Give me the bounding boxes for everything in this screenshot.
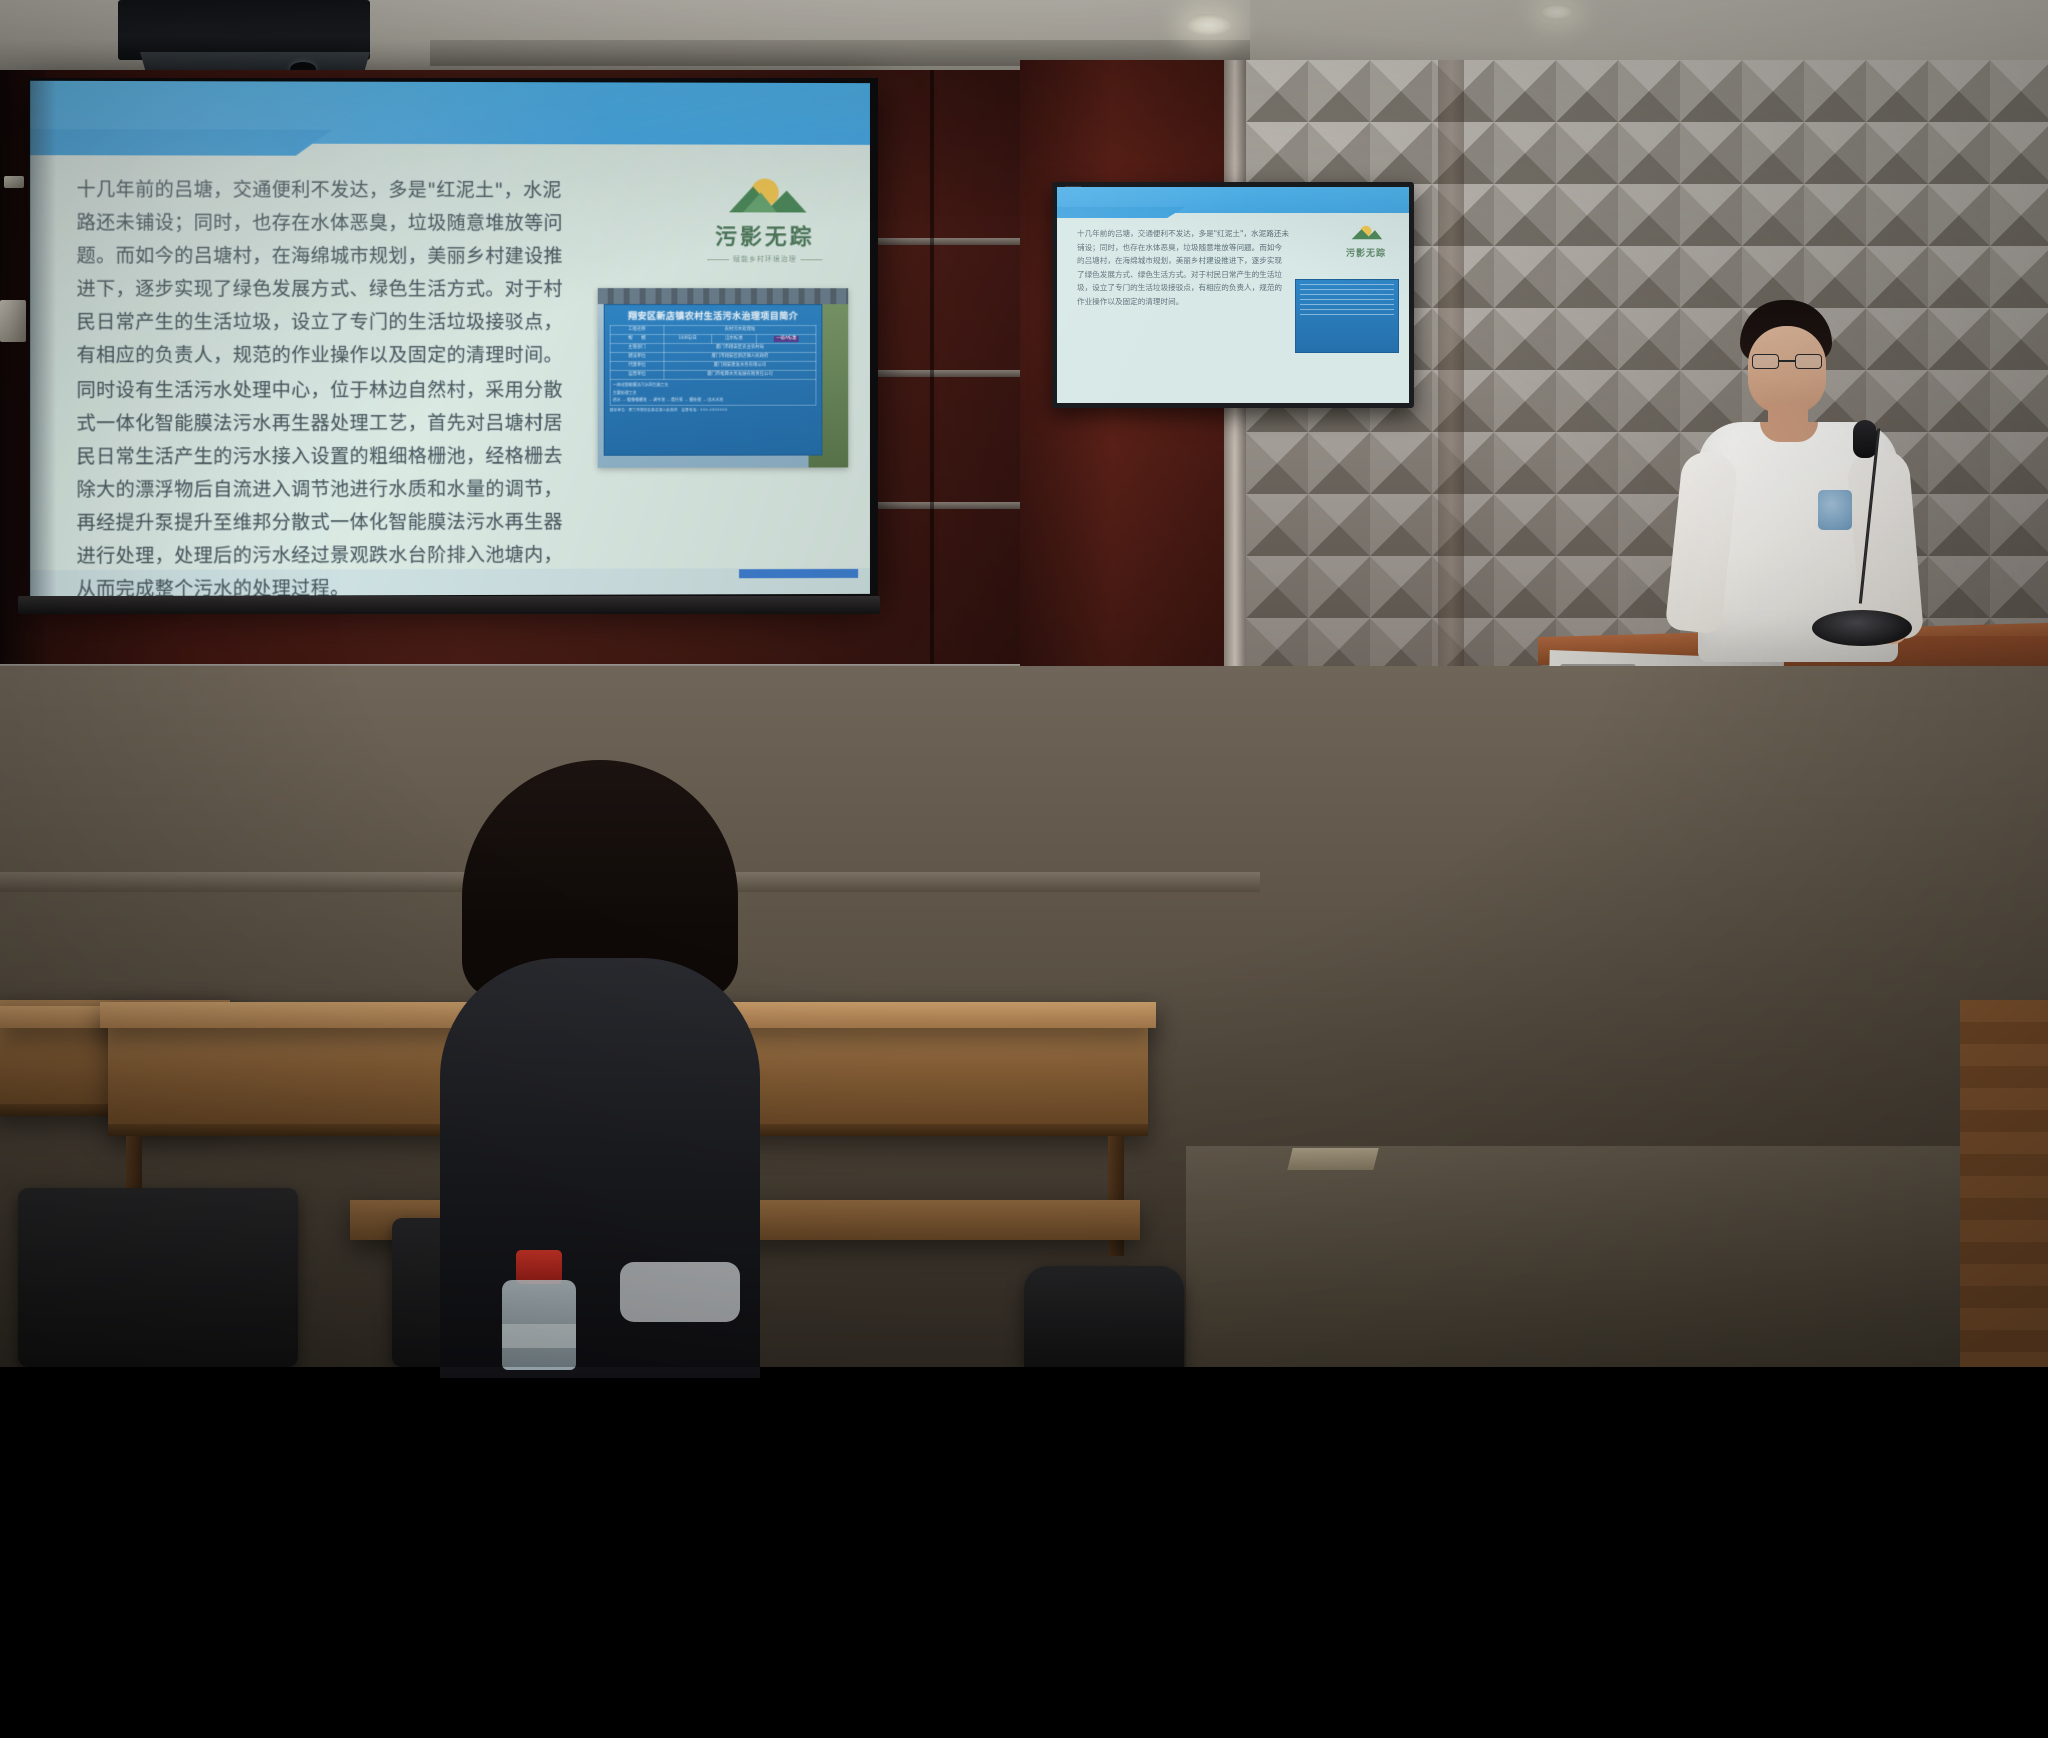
board-row-label: 建设单位 bbox=[610, 352, 664, 361]
mountain-sun-icon bbox=[1337, 223, 1395, 241]
bottle-cap bbox=[516, 1250, 562, 1284]
board-row-value: 厦门市翔安区新店镇人民政府 bbox=[664, 352, 816, 361]
microphone-head-icon bbox=[1853, 420, 1877, 458]
tv-screen: 十几年前的吕塘，交通便利不发达，多是"红泥土"，水泥路还未铺设；同时，也存在水体… bbox=[1057, 187, 1409, 403]
projection-screen[interactable]: 污影无踪 赋能乡村环境治理 十几年前的吕塘，交通便利不发达，多是"红泥土"，水泥… bbox=[30, 81, 870, 596]
wall-bracket bbox=[0, 300, 26, 342]
speaker-presenter bbox=[1668, 300, 1936, 660]
table-row: 代建单位 厦门翔安建发水务有限公司 bbox=[610, 361, 816, 370]
board-row-value: 农村污水处理站 bbox=[664, 326, 816, 335]
ceiling-projector bbox=[118, 0, 370, 60]
slide-top-notch bbox=[30, 129, 332, 156]
tv-slide-mirror: 十几年前的吕塘，交通便利不发达，多是"红泥土"，水泥路还未铺设；同时，也存在水体… bbox=[1057, 187, 1409, 403]
wood-floor-strip bbox=[1960, 1000, 2048, 1367]
board-title: 翔安区新店镇农村生活污水治理项目简介 bbox=[610, 309, 817, 322]
board-row-value: 厦门翔安建发水务有限公司 bbox=[664, 361, 816, 370]
floor-carpet-right bbox=[1186, 1146, 2048, 1367]
ceiling-downlight bbox=[1540, 4, 1574, 20]
wall-column-divider bbox=[1438, 60, 1464, 680]
table-row: 工程名称 农村污水处理站 bbox=[610, 326, 816, 335]
tv-slide-notch bbox=[1057, 207, 1185, 218]
screen-bottom-casing bbox=[18, 596, 880, 614]
board-process-label: 主要处理工艺 bbox=[613, 390, 814, 396]
board-process-flow: 进水 → 粗细格栅池 → 调节池 → 提升泵 → 膜处理 → 出水水池 bbox=[613, 397, 814, 403]
board-row-value2: 出水标准 bbox=[711, 335, 756, 344]
microphone-base bbox=[1812, 610, 1912, 646]
floor-vent-plate bbox=[1287, 1148, 1378, 1170]
board-row-label: 工程名称 bbox=[610, 326, 664, 335]
board-row-label: 主管部门 bbox=[610, 343, 664, 352]
lecture-hall-scene: 污影无踪 赋能乡村环境治理 十几年前的吕塘，交通便利不发达，多是"红泥土"，水泥… bbox=[0, 0, 2048, 1367]
table-row: 主管部门 厦门市翔安区农业农村局 bbox=[610, 343, 816, 352]
board-row-label: 运营单位 bbox=[610, 370, 664, 379]
slide-bottom-accent-bar bbox=[739, 569, 858, 578]
audience-chair[interactable] bbox=[18, 1188, 298, 1367]
audience-chair[interactable] bbox=[1024, 1266, 1184, 1367]
slide-body-text: 十几年前的吕塘，交通便利不发达，多是"红泥土"，水泥路还未铺设；同时，也存在水体… bbox=[77, 173, 578, 596]
board-row-value: 厦门市翔安区农业农村局 bbox=[664, 343, 816, 352]
board-process-note: 一体化智能膜法污水再生器工艺 bbox=[613, 382, 814, 388]
ceiling-downlight bbox=[1186, 14, 1232, 36]
board-table: 工程名称 农村污水处理站 规 模 100吨/日 出水标准 一级A标准 主管部门 … bbox=[610, 325, 817, 380]
tv-slide-text: 十几年前的吕塘，交通便利不发达，多是"红泥土"，水泥路还未铺设；同时，也存在水体… bbox=[1077, 227, 1289, 309]
board-row-value: 100吨/日 bbox=[664, 335, 712, 344]
tv-slide-logo: 污影无踪 bbox=[1337, 223, 1395, 259]
screen-shadow bbox=[30, 81, 56, 596]
mountain-sun-icon bbox=[695, 172, 834, 216]
slide-brand-logo: 污影无踪 赋能乡村环境治理 bbox=[695, 172, 834, 264]
wall-mounted-tv[interactable]: 十几年前的吕塘，交通便利不发达，多是"红泥土"，水泥路还未铺设；同时，也存在水体… bbox=[1052, 182, 1414, 408]
board-process-section: 一体化智能膜法污水再生器工艺 主要处理工艺 进水 → 粗细格栅池 → 调节池 →… bbox=[610, 380, 817, 406]
speaker-face bbox=[1748, 326, 1826, 414]
logo-wordmark: 污影无踪 bbox=[695, 219, 834, 251]
project-info-board: 翔安区新店镇农村生活污水治理项目简介 工程名称 农村污水处理站 规 模 100吨… bbox=[604, 304, 823, 456]
bottle-label bbox=[502, 1324, 576, 1348]
tv-logo-wordmark: 污影无踪 bbox=[1337, 246, 1395, 259]
board-footer: 建设单位：厦门市翔安区新店镇人民政府 监督电话：XXX-XXXXXXX bbox=[610, 408, 817, 413]
glasses-icon bbox=[1752, 354, 1822, 370]
slide-paragraph-2: 同时设有生活污水处理中心，位于林边自然村，采用分散式一体化智能膜法污水再生器处理… bbox=[77, 374, 578, 596]
speaker-shirt-graphic bbox=[1818, 490, 1852, 530]
wall-bracket bbox=[4, 176, 24, 188]
tv-embedded-photo bbox=[1295, 279, 1399, 353]
water-bottle[interactable] bbox=[498, 1250, 580, 1367]
status-badge: 一级A标准 bbox=[774, 336, 798, 342]
table-row: 运营单位 厦门市松霖水务发展有限责任公司 bbox=[610, 370, 816, 379]
face-mask bbox=[620, 1262, 740, 1322]
table-row: 建设单位 厦门市翔安区新店镇人民政府 bbox=[610, 352, 816, 361]
board-row-label: 代建单位 bbox=[610, 361, 664, 370]
board-row-label: 规 模 bbox=[610, 335, 664, 344]
presentation-slide: 污影无踪 赋能乡村环境治理 十几年前的吕塘，交通便利不发达，多是"红泥土"，水泥… bbox=[30, 81, 870, 596]
slide-embedded-photo: 翔安区新店镇农村生活污水治理项目简介 工程名称 农村污水处理站 规 模 100吨… bbox=[598, 288, 848, 468]
board-row-value: 厦门市松霖水务发展有限责任公司 bbox=[664, 370, 816, 379]
table-row: 规 模 100吨/日 出水标准 一级A标准 bbox=[610, 335, 816, 344]
logo-subtitle: 赋能乡村环境治理 bbox=[695, 254, 834, 264]
slide-paragraph-1: 十几年前的吕塘，交通便利不发达，多是"红泥土"，水泥路还未铺设；同时，也存在水体… bbox=[77, 173, 578, 372]
